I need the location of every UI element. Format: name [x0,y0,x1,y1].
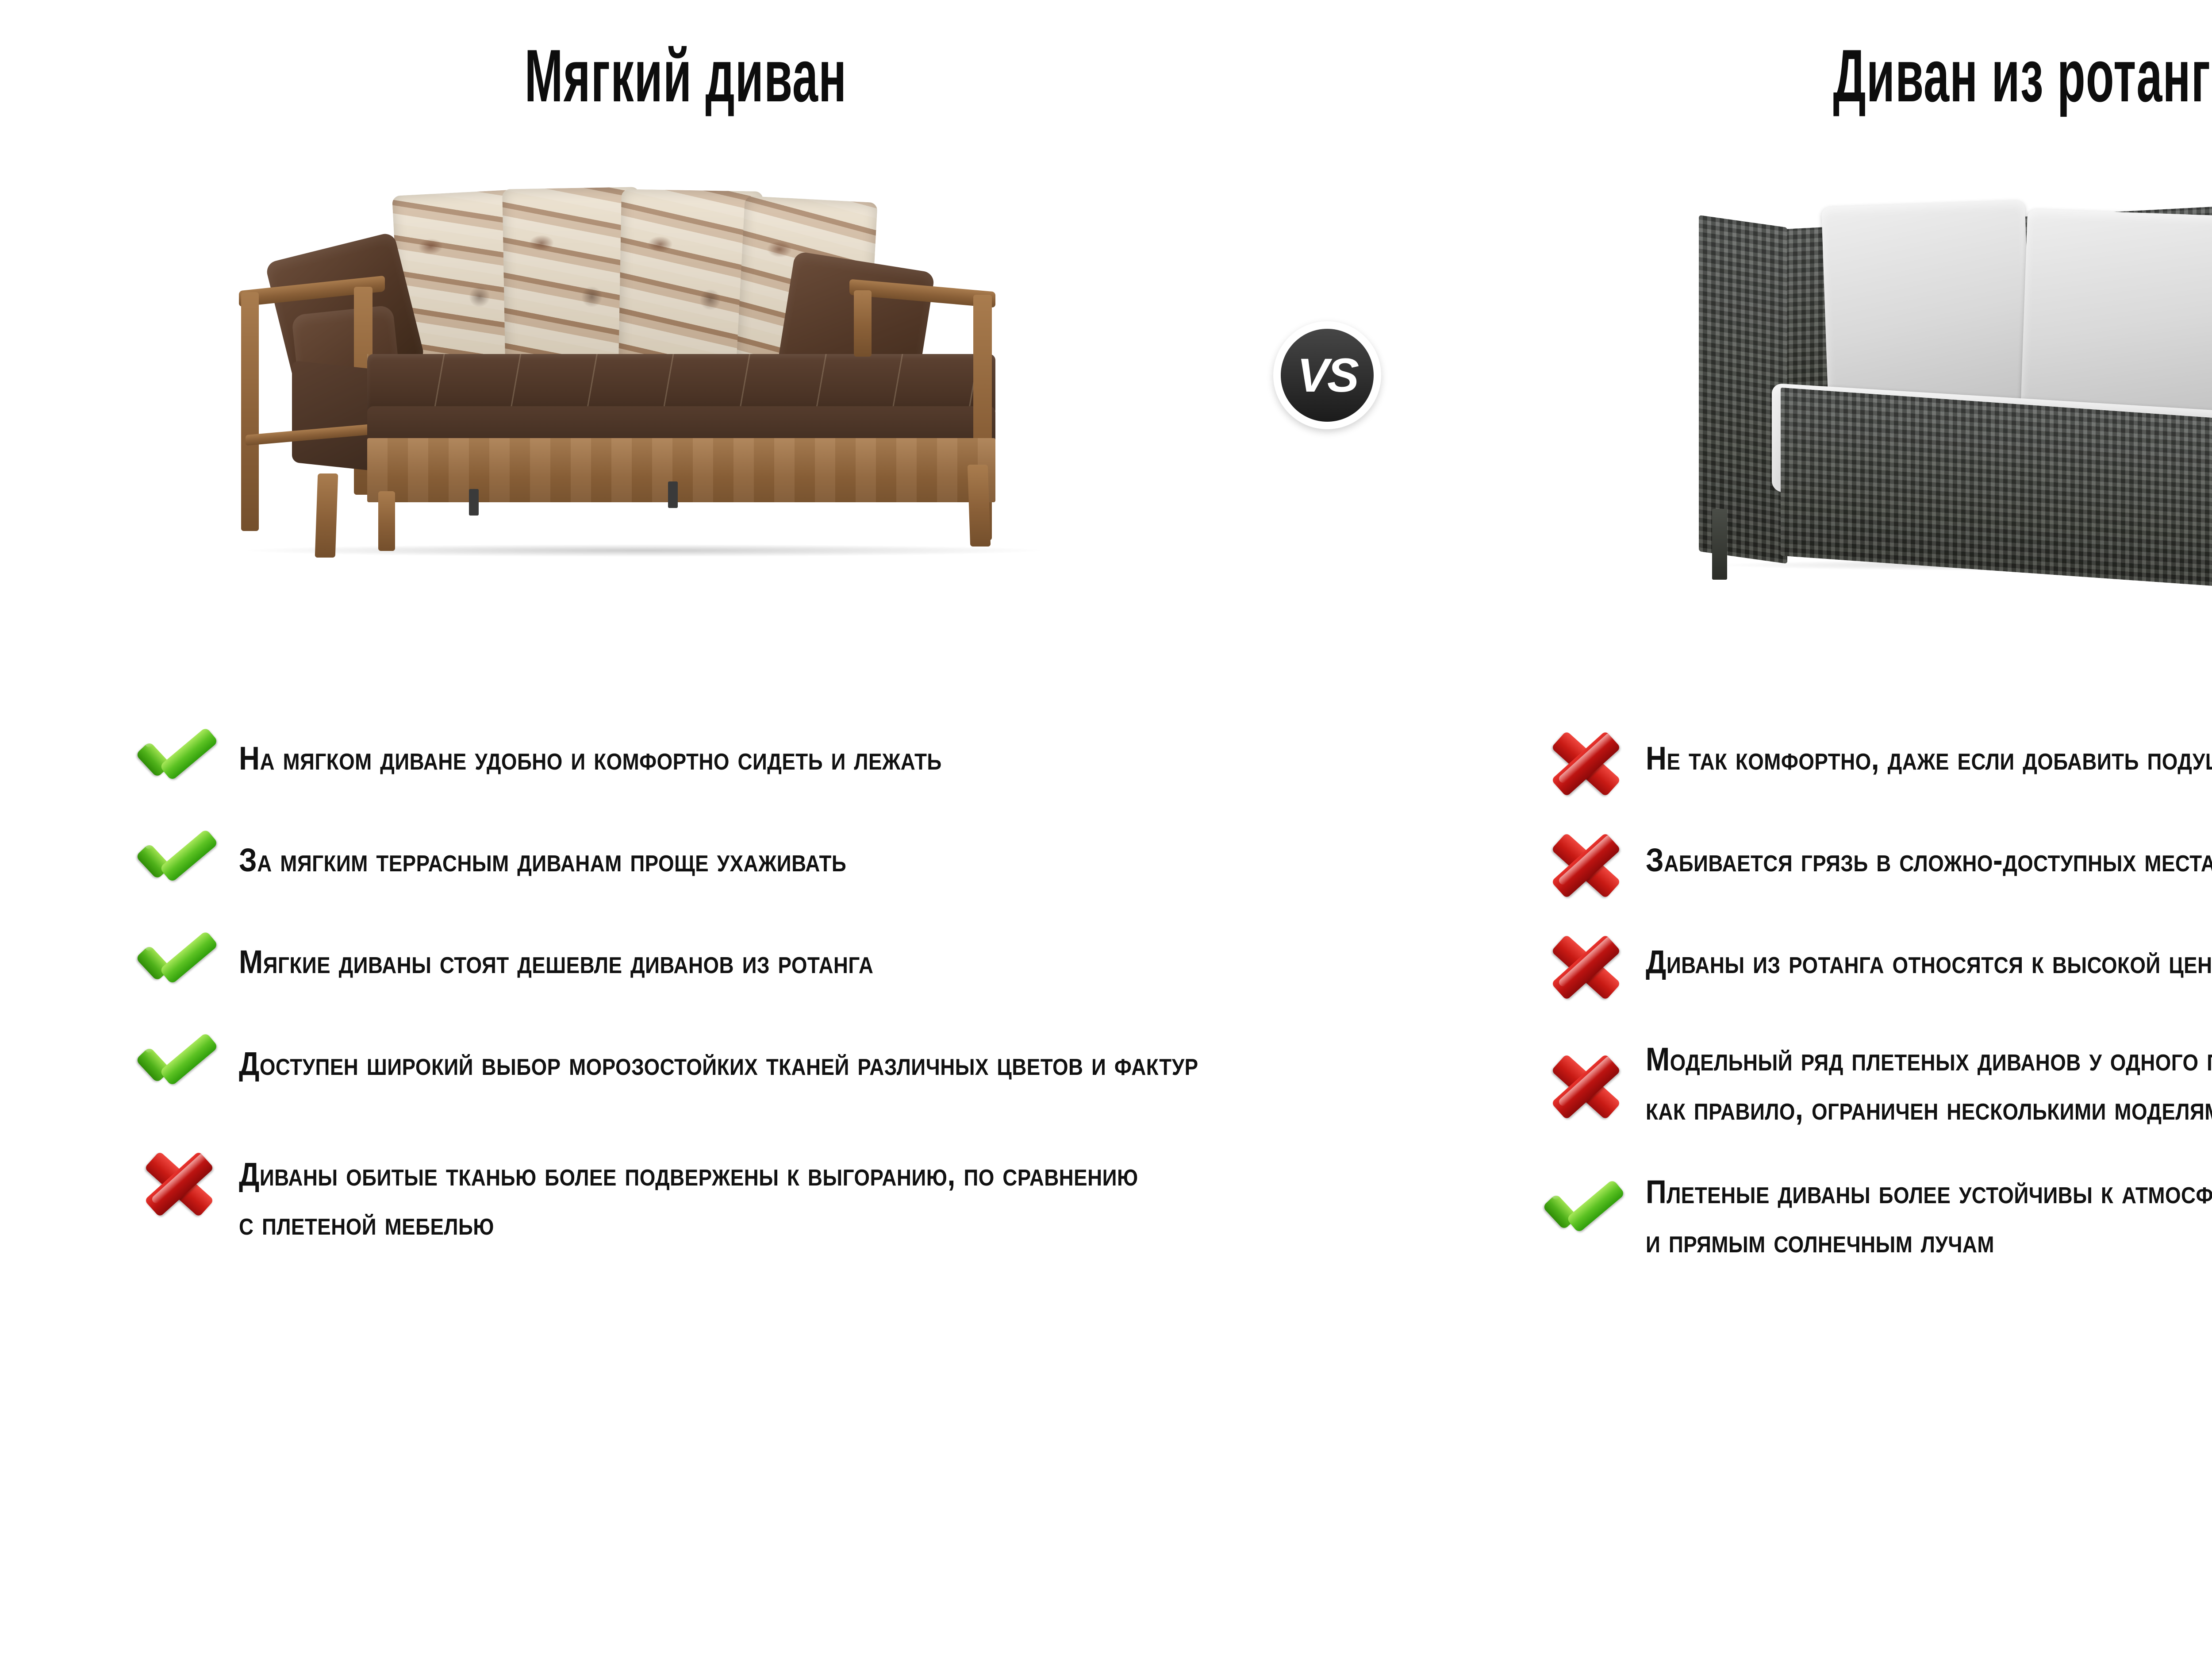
list-item-text: Забивается грязь в сложно-доступных мест… [1646,823,2212,885]
list-item: Не так комфортно, даже если добавить под… [1548,721,2212,797]
infographic-canvas: Мягкий диван Диван из ротанга [0,0,2212,1655]
list-item-text-block: Диваны обитые тканью более подвержены к … [239,1142,1261,1248]
check-icon [142,831,217,897]
mark-slot [1548,925,1646,1000]
mark-slot [1548,823,1646,898]
sofa-shadow [248,544,1040,557]
list-item: Забивается грязь в сложно-доступных мест… [1548,823,2212,898]
mark-slot [1548,721,1646,797]
mark-slot [142,1142,239,1243]
mark-slot [142,721,239,797]
mark-slot [1548,1027,1646,1128]
cross-icon [146,1151,212,1217]
list-item: Доступен широкий выбор морозостойких тка… [142,1027,1380,1102]
list-item-text: Диваны из ротанга относятся к высокой це… [1646,925,2212,986]
list-item: Мягкие диваны стоят дешевле диванов из р… [142,925,1380,1000]
vs-badge: VS [1273,321,1381,429]
list-item-text: Не так комфортно, даже если добавить под… [1646,721,2212,783]
check-icon [1548,1182,1624,1248]
list-item-text: За мягким террасным диванам проще ухажив… [239,823,1243,885]
wood-leg [968,465,991,547]
page-title-left: Мягкий диван [343,33,1029,119]
wood-post [854,290,872,357]
cross-icon [1553,832,1619,898]
caster-wheel [668,481,678,508]
list-item-text: с плетеной мебелью [239,1199,1138,1248]
mark-slot [1548,1159,1646,1261]
check-icon [142,1035,217,1101]
list-item-text-block: Модельный ряд плетеных диванов у одного … [1646,1027,2212,1133]
list-item: Диваны из ротанга относятся к высокой це… [1548,925,2212,1000]
mark-slot [142,1027,239,1102]
product-image-rattan-sofa [1694,173,2212,571]
list-item-text: Доступен широкий выбор морозостойких тка… [239,1027,1243,1088]
list-item: За мягким террасным диванам проще ухажив… [142,823,1380,898]
list-item: На мягком диване удобно и комфортно сиде… [142,721,1380,797]
list-item-text: и прямым солнечным лучам [1646,1216,2212,1266]
check-icon [142,933,217,999]
back-cushion-right [2020,209,2212,420]
feature-list-right: Не так комфортно, даже если добавить под… [1548,721,2212,1292]
mark-slot [142,925,239,1000]
back-cushion-left [1821,200,2032,415]
page-title-right: Диван из ротанга [1692,33,2212,119]
wood-post [241,292,259,531]
wood-leg [315,473,338,558]
check-icon [142,729,217,796]
list-item: Диваны обитые тканью более подвержены к … [142,1142,1380,1248]
vs-badge-circle: VS [1281,329,1374,422]
wood-base-panel [367,438,995,502]
feature-list-left: На мягком диване удобно и комфортно сиде… [142,721,1380,1274]
list-item: Модельный ряд плетеных диванов у одного … [1548,1027,2212,1133]
list-item-text: На мягком диване удобно и комфортно сиде… [239,721,1243,783]
product-image-soft-sofa [221,164,1071,558]
list-item-text: Мягкие диваны стоят дешевле диванов из р… [239,925,1243,986]
list-item-text-block: Плетеные диваны более устойчивы к атмосф… [1646,1159,2212,1266]
mark-slot [142,823,239,898]
list-item-text: Диваны обитые тканью более подвержены к … [239,1142,1138,1199]
list-item-text: Плетеные диваны более устойчивы к атмосф… [1646,1159,2212,1216]
metal-leg [1712,509,1727,580]
cross-icon [1553,934,1619,1000]
cross-icon [1553,1053,1619,1120]
list-item-text: Модельный ряд плетеных диванов у одного … [1646,1027,2212,1084]
vs-label: VS [1297,351,1357,399]
list-item-text: как правило, ограничен несколькими модел… [1646,1084,2212,1133]
cross-icon [1553,730,1619,797]
list-item: Плетеные диваны более устойчивы к атмосф… [1548,1159,2212,1266]
caster-wheel [469,489,479,516]
wood-leg [378,491,395,551]
